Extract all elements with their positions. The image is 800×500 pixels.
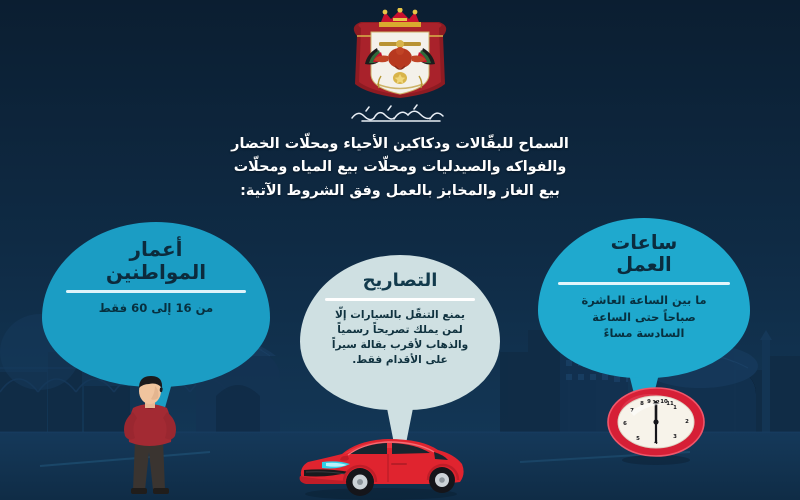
headline: السماح للبقّالات ودكاكين الأحياء ومحلّات… [165, 133, 635, 203]
bubble-permits-divider [325, 298, 475, 301]
bubble-ages-title: أعمار المواطنين [106, 222, 206, 284]
bubble-hours: ساعات العمل ما بين الساعة العاشرة صباحاً… [538, 218, 750, 378]
bubble-hours-text: ما بين الساعة العاشرة صباحاً حتى الساعة … [581, 292, 706, 341]
bubble-permits-text: يمنع التنقّل بالسيارات إلّا لمن يملك تصر… [332, 308, 468, 368]
bubble-hours-title-line-2: العمل [611, 254, 678, 276]
bubble-ages-title-line-1: أعمار [106, 238, 206, 261]
jordan-coat-of-arms-icon [341, 8, 459, 100]
bubble-hours-text-line-1: ما بين الساعة العاشرة [581, 292, 706, 308]
standing-man-illustration [103, 372, 199, 500]
bubble-ages-divider [66, 290, 246, 293]
svg-text:3: 3 [673, 434, 677, 440]
bubble-ages: أعمار المواطنين من 16 إلى 60 فقط [42, 222, 270, 387]
svg-text:2: 2 [685, 419, 689, 425]
bubble-permits-text-line-4: على الأقدام فقط. [332, 353, 468, 368]
red-alarm-clock-illustration: 12 1 2 3 4 5 6 7 8 9 10 11 [604, 382, 708, 466]
emblem-block: رئاسة الوزراء [0, 8, 800, 127]
bubble-hours-text-line-2: صباحاً حتى الساعة [581, 309, 706, 325]
prime-ministry-calligraphy-icon [344, 102, 456, 126]
emblem-caption: رئاسة الوزراء [344, 101, 456, 127]
bubble-permits: التصاريح يمنع التنقّل بالسيارات إلّا لمن… [300, 255, 500, 410]
bubble-permits-text-line-2: لمن يملك تصريحاً رسمياً [332, 323, 468, 338]
headline-line-2: والفواكه والصيدليات ومحلّات بيع المياه و… [165, 156, 635, 179]
bubble-permits-text-line-1: يمنع التنقّل بالسيارات إلّا [332, 308, 468, 323]
headline-line-3: بيع الغاز والمخابز بالعمل وفق الشروط الآ… [165, 180, 635, 203]
headline-line-1: السماح للبقّالات ودكاكين الأحياء ومحلّات… [165, 133, 635, 156]
bubble-ages-title-line-2: المواطنين [106, 261, 206, 284]
svg-text:11: 11 [666, 401, 674, 407]
bubble-hours-title: ساعات العمل [611, 218, 678, 276]
red-car-illustration [292, 424, 470, 500]
bubble-hours-text-line-3: السادسة مساءً [581, 325, 706, 341]
bubble-hours-title-line-1: ساعات [611, 232, 678, 254]
bubble-permits-text-line-3: والذهاب لأقرب بقالة سيراً [332, 338, 468, 353]
bubble-hours-divider [558, 282, 730, 285]
bubble-ages-text-line-1: من 16 إلى 60 فقط [99, 300, 213, 316]
bubble-permits-title-line-1: التصاريح [363, 271, 438, 292]
svg-text:6: 6 [623, 421, 627, 427]
bubble-permits-title: التصاريح [363, 255, 438, 292]
bubble-ages-text: من 16 إلى 60 فقط [99, 300, 213, 316]
infographic-canvas: رئاسة الوزراء السماح للبقّالات ودكاكين ا… [0, 0, 800, 500]
svg-text:5: 5 [636, 436, 640, 442]
